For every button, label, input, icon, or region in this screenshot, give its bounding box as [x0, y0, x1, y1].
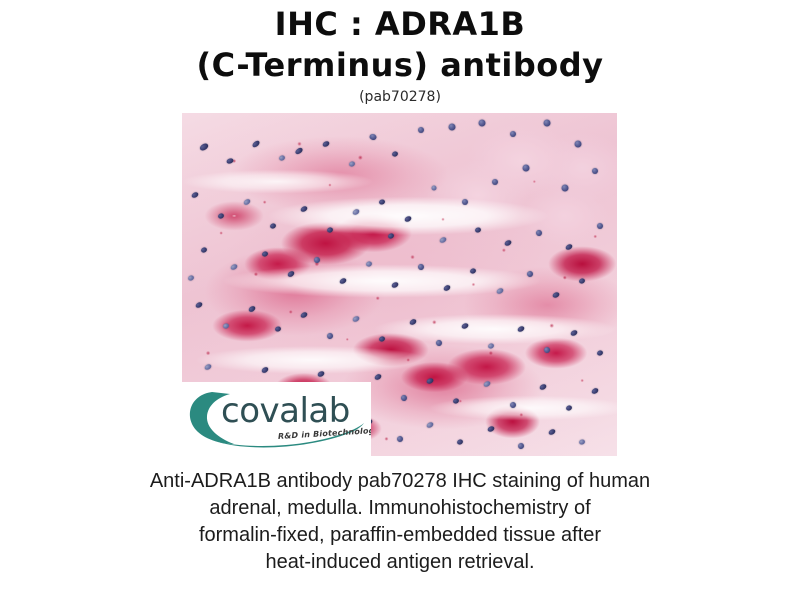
cell-nucleus [544, 346, 551, 353]
cell-nucleus [522, 164, 529, 171]
cell-nucleus [544, 120, 551, 127]
cell-nucleus [326, 226, 333, 233]
cell-nucleus [561, 185, 568, 192]
cell-nucleus [579, 439, 586, 446]
figure-caption: Anti-ADRA1B antibody pab70278 IHC staini… [0, 468, 800, 576]
cell-nucleus [352, 315, 361, 323]
cell-nucleus [373, 373, 382, 381]
cell-nucleus [579, 278, 586, 285]
cell-nucleus [426, 421, 435, 429]
cell-nucleus [191, 191, 200, 199]
cell-nucleus [439, 236, 448, 244]
cell-nucleus [565, 243, 574, 251]
cell-nucleus [198, 142, 209, 152]
cell-nucleus [226, 158, 234, 165]
cell-nucleus [482, 380, 491, 388]
cell-nucleus [317, 370, 326, 378]
cell-nucleus [547, 428, 556, 436]
cell-nucleus [574, 140, 581, 147]
cell-nucleus [391, 151, 398, 158]
covalab-wordmark: covalab [221, 394, 350, 428]
cell-nucleus [592, 168, 598, 174]
cell-nucleus [487, 425, 495, 433]
cell-nucleus [295, 146, 304, 155]
cell-nucleus [408, 318, 417, 326]
cell-nucleus [378, 199, 385, 206]
caption-line-4: heat-induced antigen retrieval. [0, 549, 800, 576]
cell-nucleus [448, 123, 455, 130]
cell-nucleus [487, 343, 494, 350]
cell-nucleus [591, 387, 600, 395]
cell-nucleus [492, 179, 498, 185]
cell-nucleus [200, 247, 208, 254]
cell-nucleus [300, 205, 309, 213]
caption-line-3: formalin-fixed, paraffin-embedded tissue… [0, 522, 800, 549]
caption-line-2: adrenal, medulla. Immunohistochemistry o… [0, 495, 800, 522]
page-title-line-2: (C-Terminus) antibody [0, 45, 800, 86]
cell-nucleus [418, 264, 425, 271]
header: IHC : ADRA1B (C-Terminus) antibody (pab7… [0, 0, 800, 106]
cell-nucleus [365, 260, 372, 267]
cell-nucleus [339, 277, 348, 285]
cell-nucleus [391, 281, 400, 289]
cell-nucleus [569, 329, 578, 337]
cell-nucleus [461, 322, 469, 330]
cell-nucleus [369, 133, 377, 141]
cell-nucleus [526, 271, 533, 278]
cell-nucleus [204, 363, 213, 371]
cell-nucleus [195, 301, 204, 309]
figure-page: IHC : ADRA1B (C-Terminus) antibody (pab7… [0, 0, 800, 600]
cell-nucleus [286, 270, 295, 278]
cell-nucleus [596, 350, 603, 357]
caption-line-1: Anti-ADRA1B antibody pab70278 IHC staini… [0, 468, 800, 495]
cell-nucleus [535, 230, 542, 237]
cell-nucleus [462, 199, 468, 205]
cell-nucleus [378, 336, 385, 343]
cell-nucleus [452, 398, 459, 405]
cell-nucleus [474, 226, 481, 233]
cell-nucleus [387, 233, 395, 240]
cell-nucleus [432, 186, 437, 191]
cell-nucleus [348, 161, 355, 168]
cell-nucleus [418, 127, 424, 133]
cell-nucleus [313, 257, 320, 264]
cell-nucleus [495, 287, 504, 295]
cell-nucleus [326, 332, 333, 339]
cell-nucleus [504, 239, 513, 247]
page-title-line-1: IHC : ADRA1B [0, 0, 800, 45]
covalab-logo: covalab R&D in Biotechnology [182, 382, 371, 456]
cell-nucleus [517, 325, 526, 333]
cell-nucleus [597, 223, 603, 229]
cell-nucleus [510, 131, 516, 137]
cell-nucleus [479, 120, 486, 127]
cell-nucleus [270, 223, 277, 230]
cell-nucleus [539, 384, 548, 392]
cell-nucleus [251, 139, 260, 148]
cell-nucleus [274, 326, 281, 333]
cell-nucleus [552, 291, 560, 299]
cell-nucleus [243, 198, 252, 206]
cell-nucleus [321, 140, 330, 148]
cell-nucleus [222, 322, 229, 329]
cell-nucleus [247, 304, 256, 312]
cell-nucleus [435, 339, 442, 346]
cell-nucleus [230, 263, 239, 271]
cell-nucleus [261, 250, 268, 257]
cell-nucleus [260, 366, 269, 374]
cell-nucleus [470, 267, 477, 274]
cell-nucleus [518, 442, 525, 449]
cell-nucleus [187, 274, 195, 281]
cell-nucleus [404, 215, 413, 223]
cell-nucleus [300, 311, 309, 319]
catalog-number: (pab70278) [0, 86, 800, 106]
cell-nucleus [396, 435, 403, 442]
cell-nucleus [400, 394, 407, 401]
cell-nucleus [443, 284, 452, 292]
cell-nucleus [565, 405, 572, 412]
cell-nucleus [457, 439, 464, 446]
cell-nucleus [278, 154, 286, 161]
cell-nucleus [426, 377, 434, 385]
cell-nucleus [217, 212, 225, 219]
ihc-micrograph: covalab R&D in Biotechnology [182, 113, 617, 456]
cell-nucleus [509, 401, 516, 408]
cell-nucleus [352, 208, 361, 216]
